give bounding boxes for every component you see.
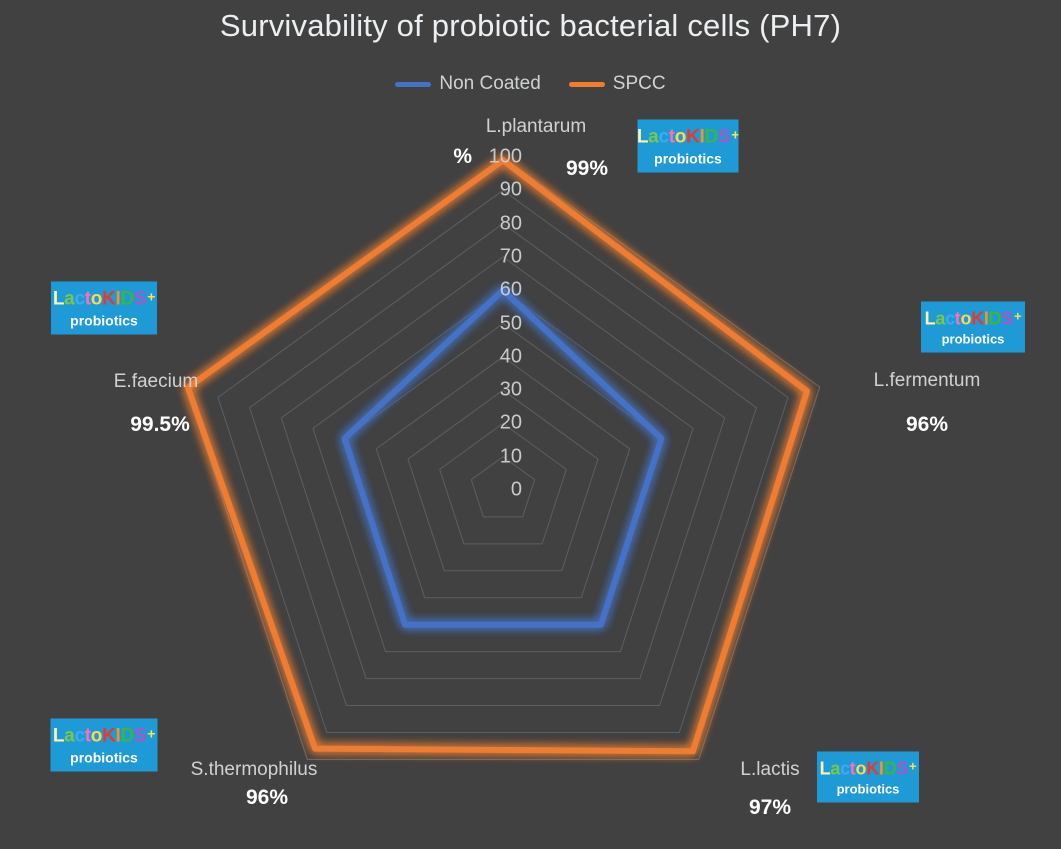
logo-letter: c <box>658 127 668 146</box>
category-label-s-thermophilus: S.thermophilus <box>191 759 318 781</box>
logo-plus-icon: + <box>731 127 738 141</box>
logo-letter: a <box>830 759 840 777</box>
logo-letter: D <box>120 726 133 745</box>
logo-letter: K <box>971 309 984 327</box>
lactokids-logo: LactoKIDS+probiotics <box>921 302 1025 353</box>
logo-letter: S <box>718 127 730 146</box>
lactokids-logo: LactoKIDS+probiotics <box>51 282 157 335</box>
logo-letter: D <box>704 127 717 146</box>
logo-letter: K <box>866 759 879 777</box>
lactokids-logo: LactoKIDS+probiotics <box>638 120 739 173</box>
logo-letter: D <box>120 289 133 308</box>
logo-wordmark: LactoKIDS+ <box>53 289 155 308</box>
logo-letter: S <box>134 289 146 308</box>
data-label-l-fermentum: 96% <box>906 413 948 437</box>
axis-tick-20: 20 <box>500 412 522 435</box>
logo-letter: c <box>74 289 84 308</box>
logo-letter: K <box>102 726 115 745</box>
category-label-e-faecium: E.faecium <box>114 371 198 393</box>
logo-letter: o <box>961 309 972 327</box>
logo-wordmark: LactoKIDS+ <box>638 127 739 146</box>
radar-series <box>188 160 807 751</box>
logo-plus-icon: + <box>147 726 155 740</box>
logo-wordmark: LactoKIDS+ <box>53 726 155 745</box>
logo-letter: o <box>856 759 867 777</box>
logo-letter: a <box>648 127 658 146</box>
axis-tick-80: 80 <box>500 212 522 235</box>
axis-tick-100: 100 <box>489 146 522 169</box>
logo-letter: o <box>675 127 686 146</box>
series-line-spcc <box>188 160 807 751</box>
axis-tick-60: 60 <box>500 279 522 302</box>
logo-letter: S <box>1001 309 1013 327</box>
logo-letter: S <box>134 726 146 745</box>
axis-tick-30: 30 <box>500 379 522 402</box>
data-label-l-lactis: 97% <box>749 796 791 820</box>
logo-letter: a <box>64 726 74 745</box>
axis-tick-90: 90 <box>500 179 522 202</box>
grid-ring <box>440 423 567 544</box>
logo-subtitle: probiotics <box>70 313 138 327</box>
logo-letter: c <box>945 309 955 327</box>
logo-letter: L <box>638 127 649 146</box>
category-label-l-lactis: L.lactis <box>740 759 799 781</box>
logo-plus-icon: + <box>1014 309 1021 322</box>
axis-tick-0: 0 <box>511 479 522 502</box>
logo-letter: K <box>686 127 699 146</box>
logo-plus-icon: + <box>147 289 155 303</box>
logo-subtitle: probiotics <box>942 332 1005 345</box>
axis-tick-70: 70 <box>500 245 522 268</box>
lactokids-logo: LactoKIDS+probiotics <box>51 719 158 772</box>
logo-letter: L <box>925 309 936 327</box>
logo-letter: S <box>896 759 908 777</box>
logo-subtitle: probiotics <box>70 750 138 764</box>
category-label-l-fermentum: L.fermentum <box>874 370 981 392</box>
axis-tick-40: 40 <box>500 345 522 368</box>
category-label-l-plantarum: L.plantarum <box>486 116 586 138</box>
logo-subtitle: probiotics <box>837 782 900 795</box>
axis-unit-label: % <box>453 145 472 169</box>
chart-canvas: Survivability of probiotic bacterial cel… <box>0 0 1061 849</box>
logo-letter: c <box>840 759 850 777</box>
logo-letter: D <box>884 759 897 777</box>
logo-letter: L <box>820 759 831 777</box>
logo-letter: o <box>91 726 102 745</box>
data-label-e-faecium: 99.5% <box>130 413 190 437</box>
axis-tick-50: 50 <box>500 312 522 335</box>
logo-letter: a <box>64 289 74 308</box>
logo-plus-icon: + <box>909 759 916 772</box>
data-label-l-plantarum: 99% <box>566 157 608 181</box>
data-label-s-thermophilus: 96% <box>246 786 288 810</box>
logo-letter: o <box>91 289 102 308</box>
logo-letter: L <box>53 289 64 308</box>
logo-letter: K <box>102 289 115 308</box>
logo-letter: c <box>74 726 84 745</box>
logo-letter: L <box>53 726 64 745</box>
logo-wordmark: LactoKIDS+ <box>820 759 917 777</box>
logo-letter: D <box>989 309 1002 327</box>
lactokids-logo: LactoKIDS+probiotics <box>817 752 919 803</box>
logo-subtitle: probiotics <box>654 151 722 165</box>
axis-tick-10: 10 <box>500 445 522 468</box>
logo-wordmark: LactoKIDS+ <box>925 309 1022 327</box>
logo-letter: a <box>935 309 945 327</box>
